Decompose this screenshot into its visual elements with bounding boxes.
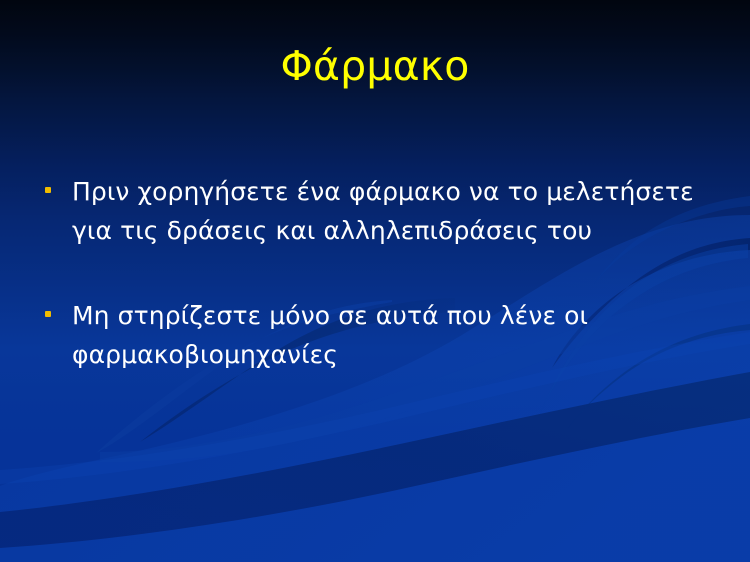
bullet-text: Μη στηρίζεστε μόνο σε αυτά που λένε οι φ… [72,296,720,374]
bullet-list: Πριν χορηγήσετε ένα φάρμακο να το μελετή… [40,172,720,374]
list-item: Πριν χορηγήσετε ένα φάρμακο να το μελετή… [40,172,720,250]
bullet-text: Πριν χορηγήσετε ένα φάρμακο να το μελετή… [72,172,720,250]
square-bullet-icon [45,311,51,317]
slide-title: Φάρμακο [0,42,750,90]
list-item: Μη στηρίζεστε μόνο σε αυτά που λένε οι φ… [40,296,720,374]
presentation-slide: Φάρμακο Πριν χορηγήσετε ένα φάρμακο να τ… [0,0,750,562]
square-bullet-icon [45,187,51,193]
